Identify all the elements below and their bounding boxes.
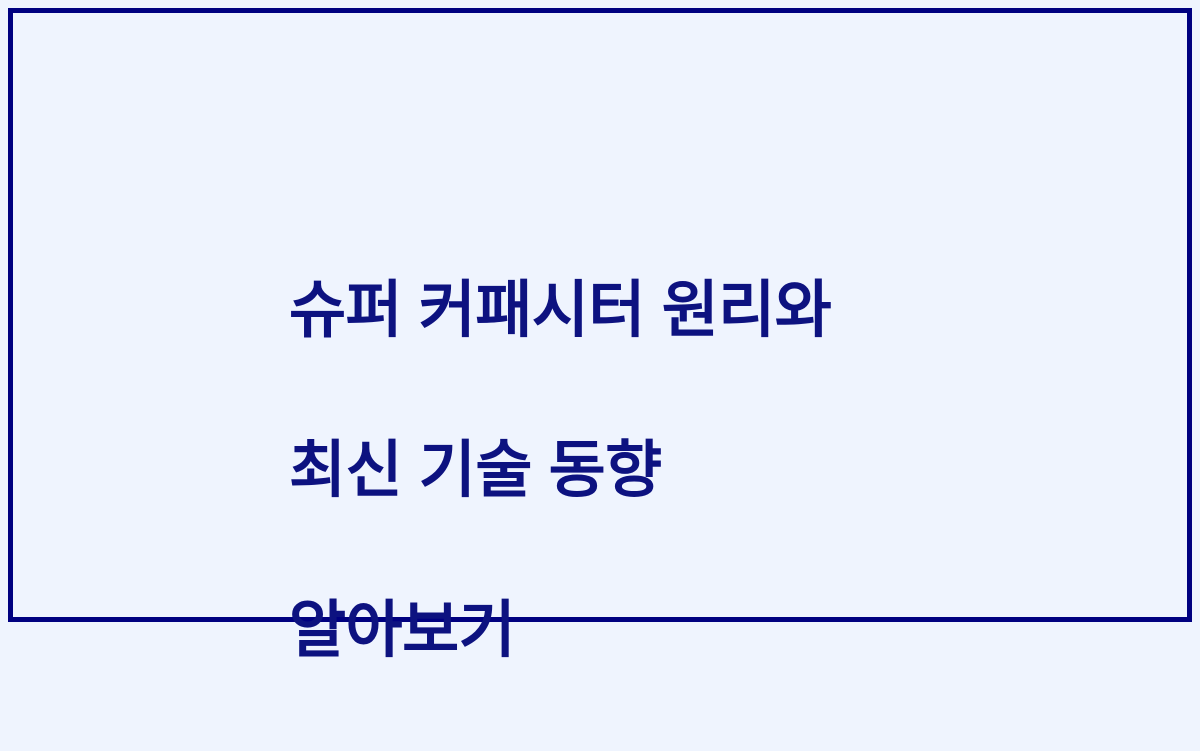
og-canvas: 슈퍼 커패시터 원리와 최신 기술 동향 알아보기 — [0, 0, 1200, 630]
page-title-line-3: 알아보기 — [289, 591, 1149, 671]
page-title: 슈퍼 커패시터 원리와 최신 기술 동향 알아보기 — [289, 191, 1149, 751]
page-title-line-2: 최신 기술 동향 — [289, 431, 1149, 511]
title-block: 슈퍼 커패시터 원리와 최신 기술 동향 알아보기 — [289, 191, 1149, 751]
page-title-line-1: 슈퍼 커패시터 원리와 — [289, 271, 1149, 351]
bordered-card: 슈퍼 커패시터 원리와 최신 기술 동향 알아보기 — [8, 8, 1192, 622]
